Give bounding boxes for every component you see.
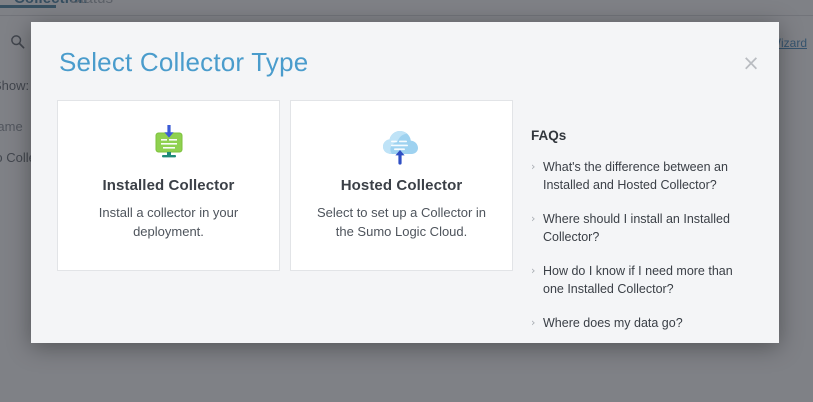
faqs-panel: FAQs › What's the difference between an … (531, 128, 751, 343)
card-title: Installed Collector (103, 177, 235, 194)
card-hosted-collector[interactable]: Hosted Collector Select to set up a Coll… (290, 100, 513, 271)
faq-link[interactable]: What's the difference between an Install… (541, 158, 751, 194)
page-root: Collection Status Search Show: All Name … (0, 0, 813, 402)
cloud-upload-icon (378, 123, 426, 169)
card-description: Select to set up a Collector in the Sumo… (312, 204, 492, 242)
faq-item[interactable]: › What's the difference between an Insta… (531, 158, 751, 194)
faq-link[interactable]: Where should I install an Installed Coll… (541, 210, 751, 246)
faq-link[interactable]: How do I know if I need more than one In… (541, 262, 751, 298)
monitor-download-icon (147, 123, 191, 169)
card-description: Install a collector in your deployment. (79, 204, 259, 242)
card-title: Hosted Collector (341, 177, 463, 194)
chevron-right-icon: › (531, 262, 541, 280)
select-collector-type-dialog: × Select Collector Type (31, 22, 779, 343)
faq-item[interactable]: › Where should I install an Installed Co… (531, 210, 751, 246)
collector-type-cards: Installed Collector Install a collector … (57, 100, 513, 271)
chevron-right-icon: › (531, 314, 541, 332)
close-icon[interactable]: × (740, 53, 762, 75)
faq-item[interactable]: › How do I know if I need more than one … (531, 262, 751, 298)
faqs-heading: FAQs (531, 128, 751, 143)
chevron-right-icon: › (531, 210, 541, 228)
card-installed-collector[interactable]: Installed Collector Install a collector … (57, 100, 280, 271)
dialog-title: Select Collector Type (59, 47, 308, 78)
chevron-right-icon: › (531, 158, 541, 176)
faq-item[interactable]: › Where does my data go? (531, 314, 751, 332)
faq-link[interactable]: Where does my data go? (541, 314, 683, 332)
